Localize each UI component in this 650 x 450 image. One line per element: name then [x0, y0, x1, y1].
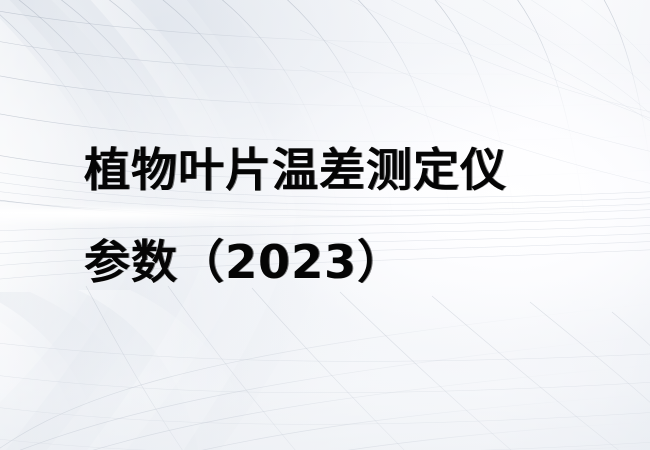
title-slide: 植物叶片温差测定仪 参数（2023） [0, 0, 650, 450]
title-line-1: 植物叶片温差测定仪 [84, 124, 624, 216]
slide-title: 植物叶片温差测定仪 参数（2023） [84, 124, 624, 308]
title-line-2: 参数（2023） [84, 216, 624, 308]
